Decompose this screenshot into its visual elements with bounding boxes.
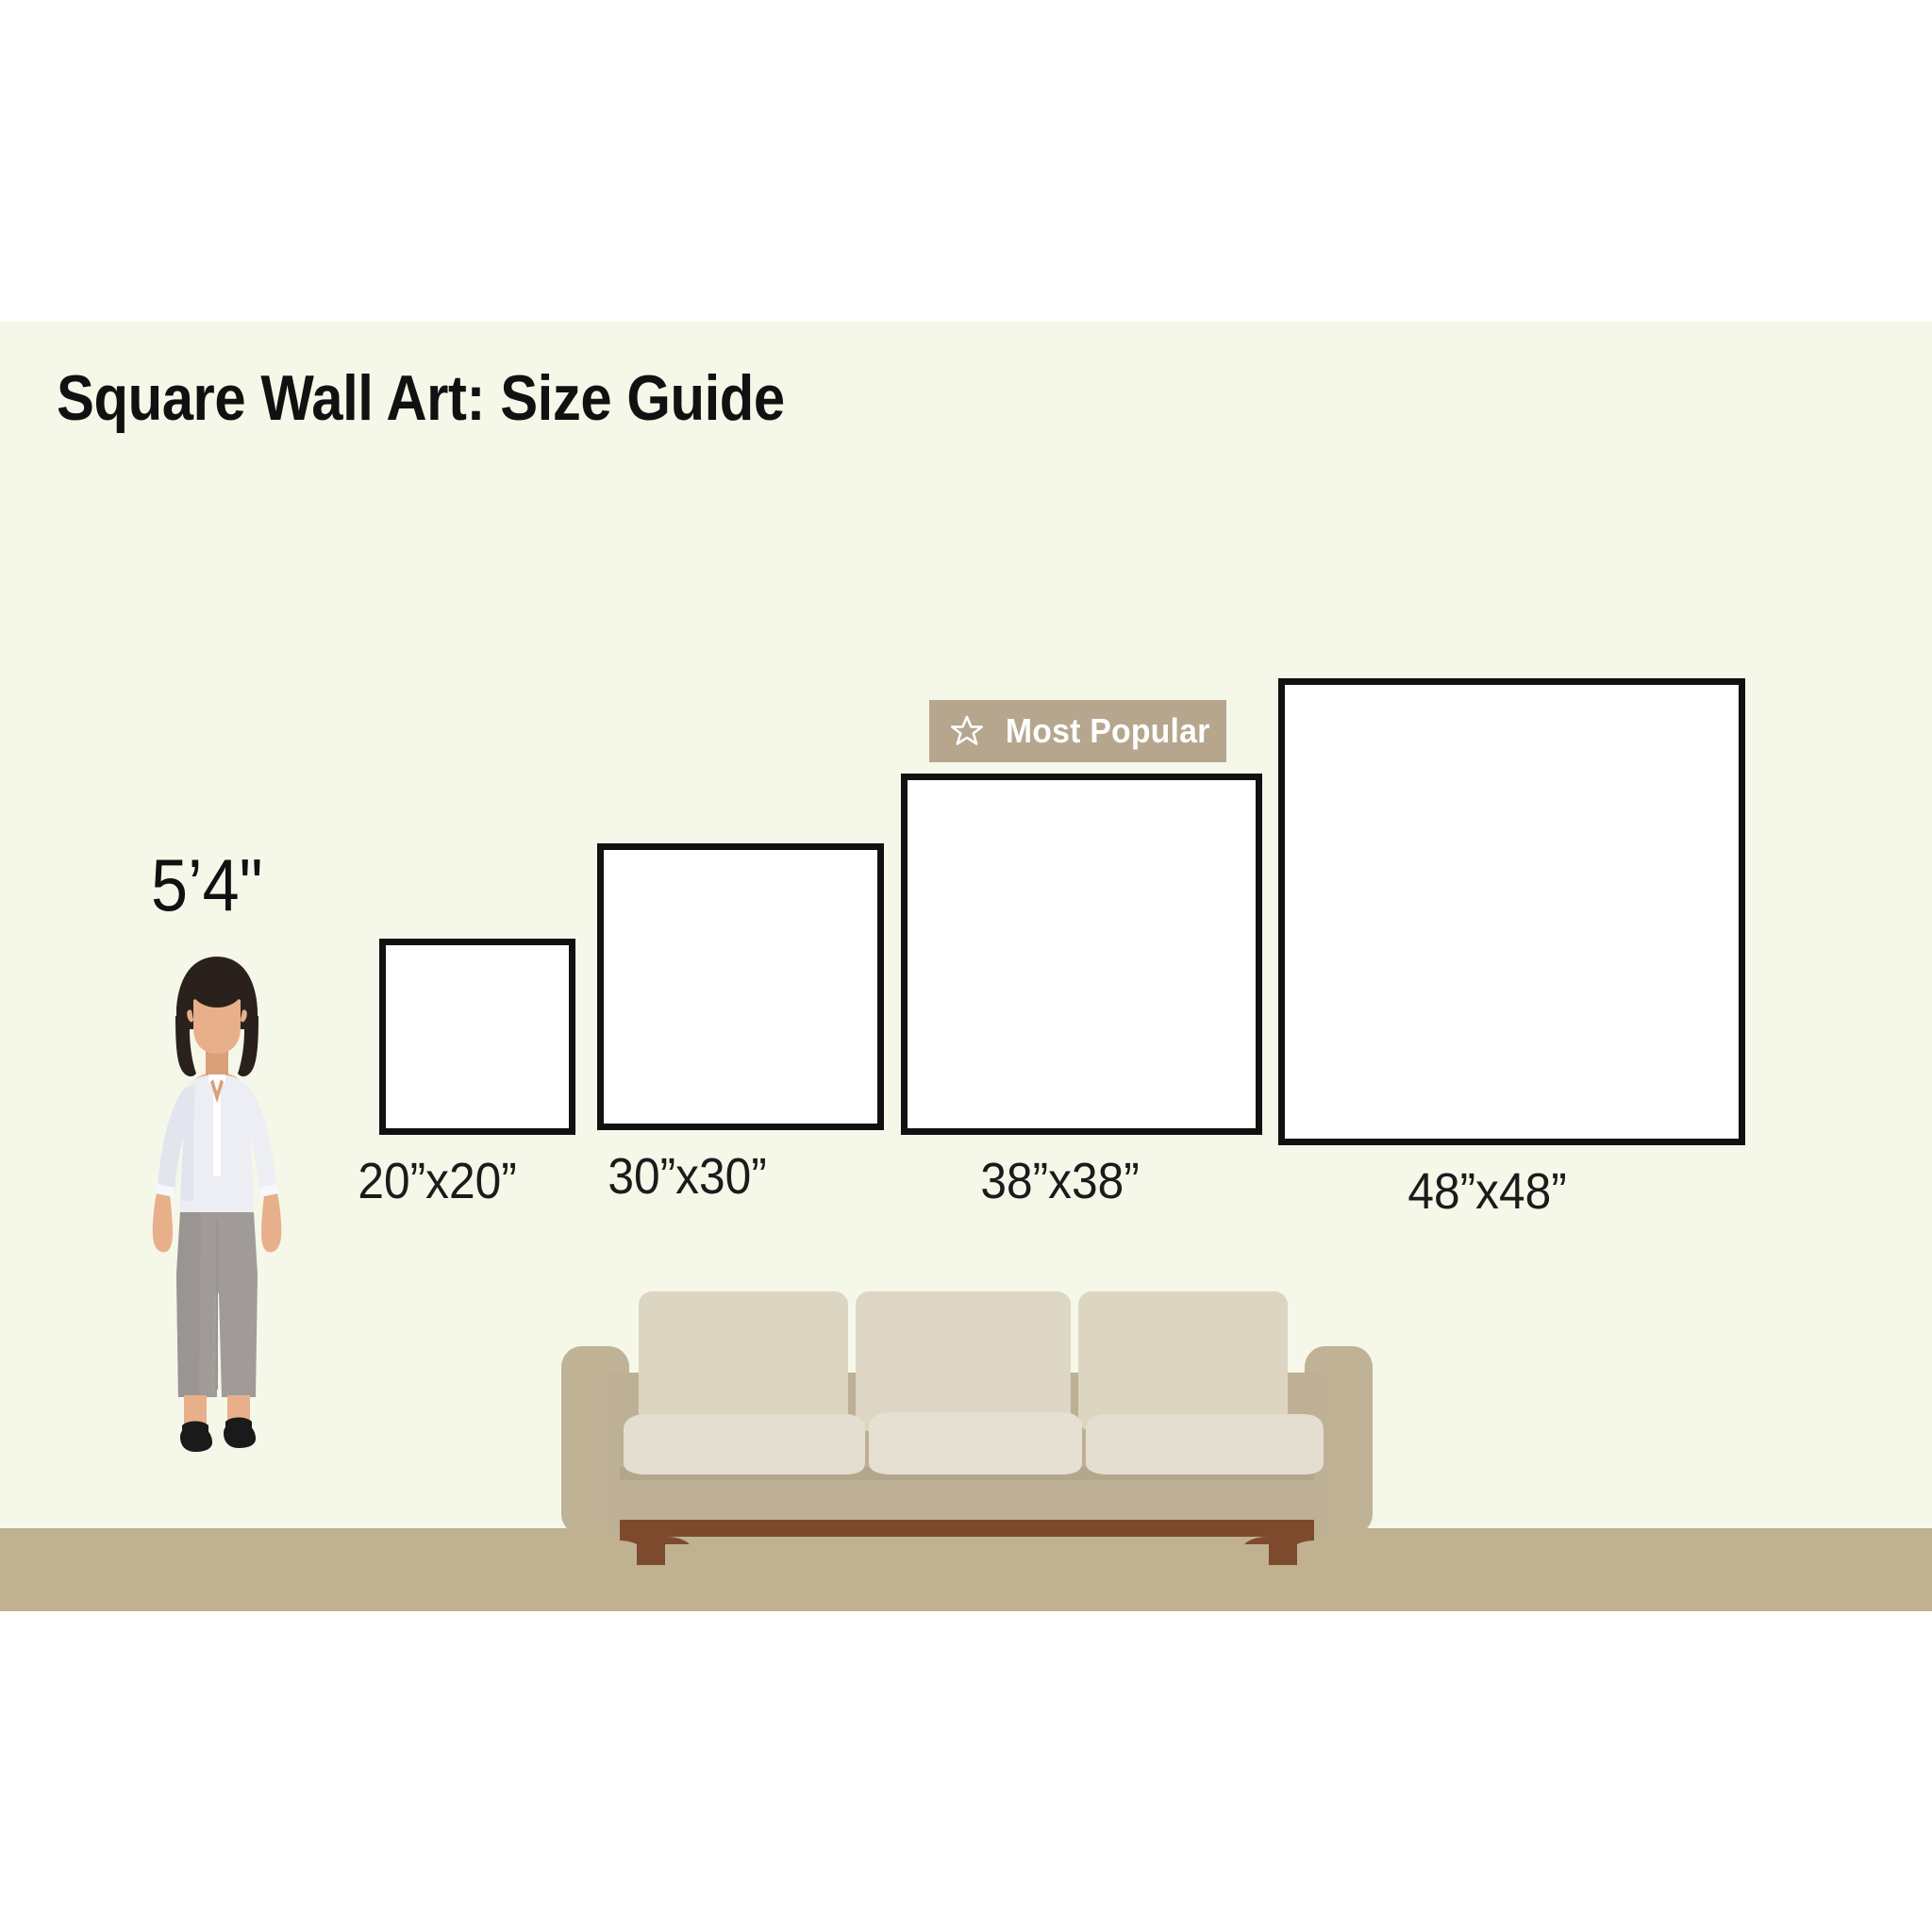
frame-size-label-38: 38”x38”	[980, 1156, 1139, 1207]
art-frame-48[interactable]	[1278, 678, 1745, 1145]
star-outline-icon	[950, 714, 984, 748]
sofa-illustration	[561, 1282, 1373, 1565]
frame-size-label-48: 48”x48”	[1407, 1166, 1566, 1217]
size-guide-illustration: Square Wall Art: Size Guide 5’4"	[0, 0, 1932, 1932]
art-frame-30[interactable]	[597, 843, 884, 1130]
art-frame-38[interactable]	[901, 774, 1262, 1135]
page-title: Square Wall Art: Size Guide	[57, 366, 785, 430]
art-frame-20[interactable]	[379, 939, 575, 1135]
frame-size-label-30: 30”x30”	[608, 1151, 766, 1202]
badge-label: Most Popular	[1006, 714, 1210, 748]
most-popular-badge: Most Popular	[929, 700, 1226, 762]
frame-size-label-20: 20”x20”	[358, 1156, 516, 1207]
standing-woman-figure	[127, 954, 307, 1543]
room-scene: Square Wall Art: Size Guide 5’4"	[0, 322, 1932, 1611]
height-reference-label: 5’4"	[151, 848, 263, 922]
